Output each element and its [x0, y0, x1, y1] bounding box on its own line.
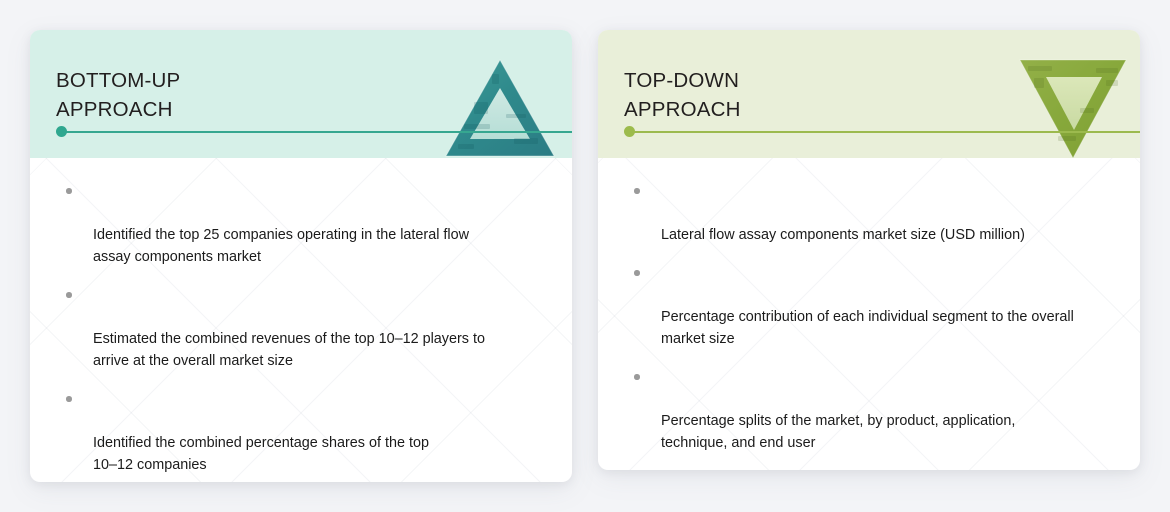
list-item-text: Lateral flow assay components market siz…	[661, 227, 1025, 243]
list-item: Estimated the combined revenues of the t…	[64, 284, 542, 372]
card-top-down-approach: TOP-DOWN APPROACH Lateral flow assay com…	[598, 30, 1140, 470]
list-item: Identified the top 25 companies operatin…	[64, 180, 542, 268]
card-body-top-down: Lateral flow assay components market siz…	[598, 158, 1140, 470]
bullet-dot-icon	[66, 188, 72, 194]
bullet-list-top-down: Lateral flow assay components market siz…	[632, 180, 1110, 470]
list-item-text: Percentage contribution of each individu…	[661, 309, 1074, 347]
accent-line	[61, 131, 572, 133]
bullet-dot-icon	[66, 292, 72, 298]
accent-line	[629, 131, 1140, 133]
card-bottom-up-approach: BOTTOM-UP APPROACH Identified the top 25…	[30, 30, 572, 482]
list-item: Percentage contribution of each individu…	[632, 262, 1110, 350]
card-body-bottom-up: Identified the top 25 companies operatin…	[30, 158, 572, 482]
triangle-up-icon	[444, 52, 556, 160]
card-header-bottom-up: BOTTOM-UP APPROACH	[30, 30, 572, 158]
list-item-text: Identified the combined percentage share…	[93, 435, 429, 473]
bullet-list-bottom-up: Identified the top 25 companies operatin…	[64, 180, 542, 482]
card-title-top-down: TOP-DOWN APPROACH	[624, 66, 741, 124]
header-accent-rule-bottom-up	[56, 126, 572, 137]
bullet-dot-icon	[66, 396, 72, 402]
card-header-top-down: TOP-DOWN APPROACH	[598, 30, 1140, 158]
list-item: Percentage splits of the market, by prod…	[632, 366, 1110, 454]
bullet-dot-icon	[634, 188, 640, 194]
accent-dot	[56, 126, 67, 137]
bullet-dot-icon	[634, 270, 640, 276]
list-item: Identified the combined percentage share…	[64, 388, 542, 476]
card-title-bottom-up: BOTTOM-UP APPROACH	[56, 66, 180, 124]
header-accent-rule-top-down	[624, 126, 1140, 137]
triangle-down-icon	[1014, 52, 1132, 164]
infographic-canvas: BOTTOM-UP APPROACH Identified the top 25…	[0, 0, 1170, 512]
list-item-text: Identified the top 25 companies operatin…	[93, 227, 469, 265]
accent-dot	[624, 126, 635, 137]
bullet-dot-icon	[634, 374, 640, 380]
list-item-text: Estimated the combined revenues of the t…	[93, 331, 485, 369]
list-item: Lateral flow assay components market siz…	[632, 180, 1110, 246]
list-item-text: Percentage splits of the market, by prod…	[661, 413, 1015, 451]
